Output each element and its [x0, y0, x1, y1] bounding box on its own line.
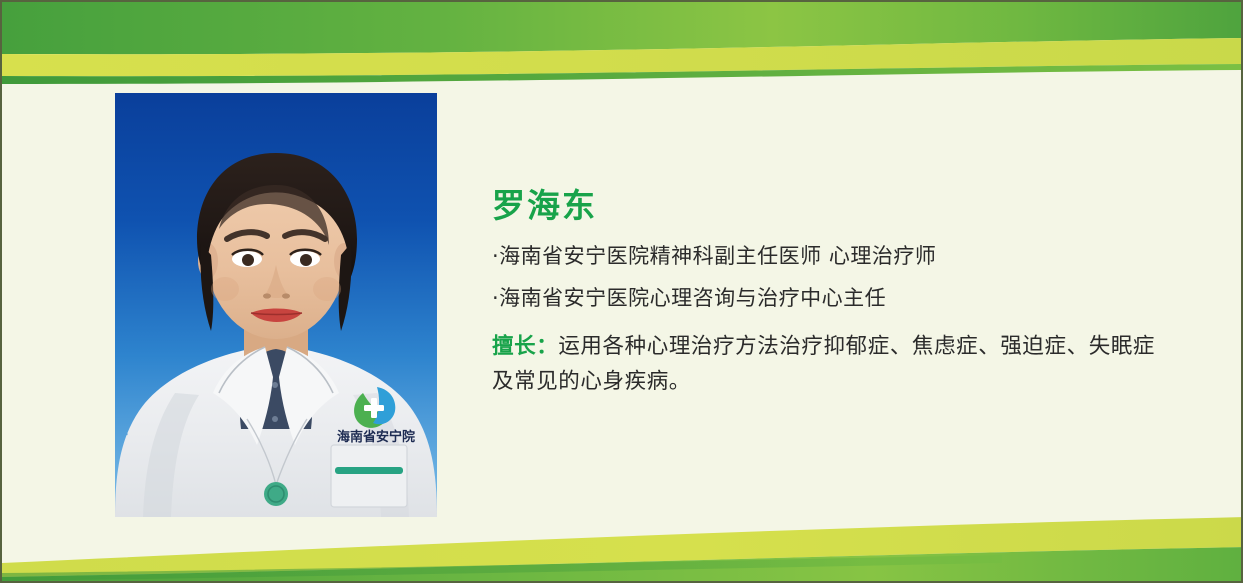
nostril-right: [282, 293, 290, 298]
specialty-label: 擅长：: [492, 334, 558, 359]
top-banner-waves: [2, 2, 1243, 84]
specialty-text: 运用各种心理治疗方法治疗抑郁症、焦虑症、强迫症、失眠症及常见的心身疾病。: [492, 334, 1155, 394]
coat-pocket: [331, 445, 407, 507]
nostril-left: [263, 293, 271, 298]
doctor-specialty: 擅长：运用各种心理治疗方法治疗抑郁症、焦虑症、强迫症、失眠症及常见的心身疾病。: [492, 330, 1164, 400]
cheek-left: [211, 277, 239, 301]
coat-logo-text: 海南省安宁院: [337, 429, 415, 445]
doctor-profile-card: 海南省安宁院: [0, 0, 1243, 583]
doctor-credential-2: ·海南省安宁医院心理咨询与治疗中心主任: [492, 288, 1192, 309]
pocket-green-stripe: [335, 467, 403, 474]
doctor-credential-1: ·海南省安宁医院精神科副主任医师 心理治疗师: [492, 246, 1192, 267]
iris-right: [300, 254, 312, 266]
doctor-name: 罗海东: [492, 188, 1192, 224]
cheek-right: [313, 277, 341, 301]
doctor-info-block: 罗海东 ·海南省安宁医院精神科副主任医师 心理治疗师 ·海南省安宁医院心理咨询与…: [492, 188, 1192, 400]
portrait-illustration: 海南省安宁院: [115, 93, 437, 517]
doctor-portrait-photo: 海南省安宁院: [115, 93, 437, 517]
iris-left: [242, 254, 254, 266]
top-decorative-banner: [2, 2, 1243, 84]
